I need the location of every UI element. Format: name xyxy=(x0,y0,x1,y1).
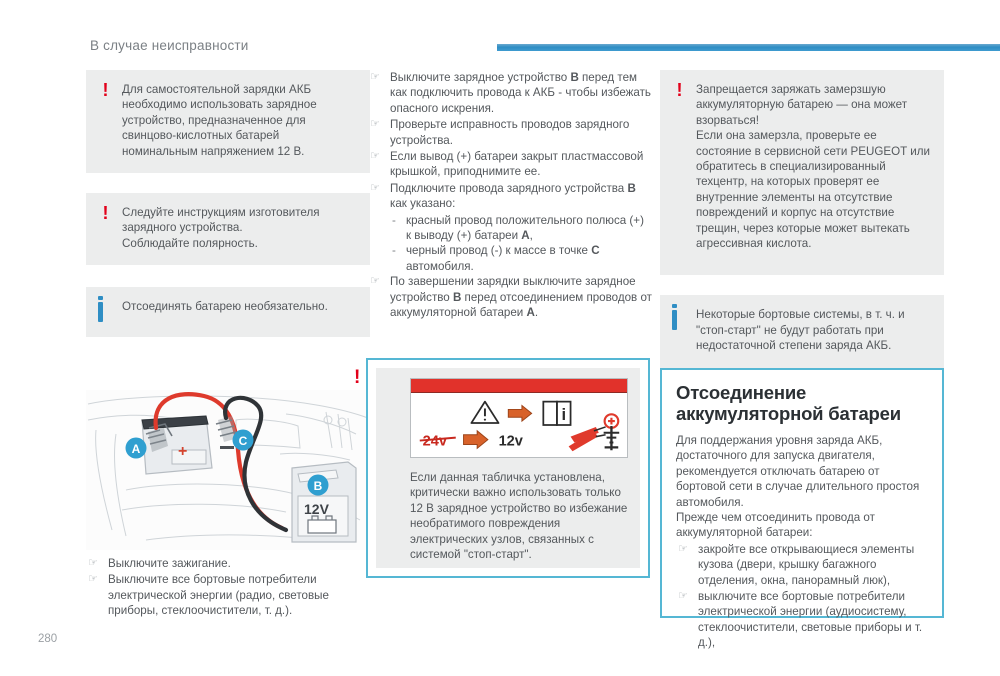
ref-letter: C xyxy=(591,244,599,257)
to-voltage-label: 12v xyxy=(499,433,524,449)
hand-pointer-icon: ☞ xyxy=(678,542,688,557)
hand-pointer-icon: ☞ xyxy=(88,572,98,587)
warning-triangle-icon xyxy=(471,402,498,423)
list-item-label-cont: как указано: xyxy=(390,197,455,210)
info-i-icon xyxy=(672,308,686,330)
from-voltage-label: 24v xyxy=(420,433,456,449)
info-text: Отсоединять батарею необязательно. xyxy=(122,299,356,314)
list-item: ☞ Выключите зажигание. xyxy=(86,556,376,571)
list-item-label: Проверьте исправность проводов зарядного… xyxy=(390,118,629,146)
list-item: - черный провод (-) к массе в точке C ав… xyxy=(390,243,652,274)
list-item-label: Выключите зажигание. xyxy=(108,557,231,570)
warning-box-charger-spec: ! Для самостоятельной зарядки АКБ необхо… xyxy=(86,70,370,173)
column-middle: ☞ Выключите зарядное устройство B перед … xyxy=(368,70,652,322)
sticker-caption: Если данная табличка установлена, критич… xyxy=(410,470,628,562)
warning-exclamation-icon: ! xyxy=(672,83,686,101)
warning-body: Если она замерзла, проверьте ее состояни… xyxy=(696,128,930,251)
warning-exclamation-icon: ! xyxy=(354,370,360,385)
left-steps-list: ☞ Выключите зажигание. ☞ Выключите все б… xyxy=(86,556,376,620)
manual-page: В случае неисправности ! Для самостоятел… xyxy=(0,0,1000,676)
warning-line-2: зарядного устройства. xyxy=(122,220,356,235)
list-item-label: закройте все открывающиеся элементы кузо… xyxy=(698,543,914,587)
warning-text: Для самостоятельной зарядки АКБ необходи… xyxy=(122,82,356,159)
warning-lead: Запрещается заряжать замерзшую аккумулят… xyxy=(696,82,930,128)
sticker-warning-panel: ! xyxy=(366,358,650,578)
list-item-label: Подключите провода зарядного устройства xyxy=(390,182,627,195)
middle-substeps-list: - красный провод положительного полюса (… xyxy=(390,213,652,275)
column-right: ! Запрещается заряжать замерзшую аккумул… xyxy=(660,70,944,390)
ref-letter: B xyxy=(570,71,578,84)
section-heading: Отсоединение аккумуляторной батареи xyxy=(676,382,928,424)
page-section-title: В случае неисправности xyxy=(90,38,249,53)
charger-voltage-label: 12V xyxy=(304,501,330,517)
list-item-label-cont: , xyxy=(530,229,533,242)
middle-steps-list: ☞ Выключите зарядное устройство B перед … xyxy=(368,70,652,212)
list-item: ☞ выключите все бортовые потребители эле… xyxy=(676,589,928,651)
info-box-disconnect-optional: Отсоединять батарею необязательно. xyxy=(86,287,370,336)
warning-exclamation-icon: ! xyxy=(98,83,112,101)
list-item: - красный провод положительного полюса (… xyxy=(390,213,652,244)
hand-pointer-icon: ☞ xyxy=(370,274,380,289)
warning-exclamation-icon: ! xyxy=(98,206,112,224)
hand-pointer-icon: ☞ xyxy=(370,149,380,164)
24v-to-12v-warning-label: i 24v 12v xyxy=(410,378,628,458)
section-intro: Для поддержания уровня заряда АКБ, доста… xyxy=(676,433,928,510)
svg-text:C: C xyxy=(239,434,248,448)
dash-bullet-icon: - xyxy=(392,243,396,258)
page-number: 280 xyxy=(38,633,57,645)
ref-letter: B xyxy=(627,182,635,195)
callout-b: B xyxy=(308,475,329,496)
svg-text:A: A xyxy=(132,442,141,456)
list-item-label: черный провод (-) к массе в точке xyxy=(406,244,591,257)
svg-text:i: i xyxy=(561,405,566,424)
header-rule xyxy=(497,44,1000,51)
svg-text:24v: 24v xyxy=(423,433,448,449)
list-item: ☞ Проверьте исправность проводов зарядно… xyxy=(368,117,652,148)
sticker-red-bar xyxy=(411,379,627,393)
hand-pointer-icon: ☞ xyxy=(370,117,380,132)
disconnection-steps-list: ☞ закройте все открывающиеся элементы ку… xyxy=(676,542,928,651)
callout-c: C xyxy=(233,430,254,451)
warning-line-3: Соблюдайте полярность. xyxy=(122,236,356,251)
list-item: ☞ закройте все открывающиеся элементы ку… xyxy=(676,542,928,588)
arrow-right-icon xyxy=(508,406,531,422)
svg-text:B: B xyxy=(314,479,323,493)
manual-book-icon: i xyxy=(543,402,570,425)
list-item: ☞ Выключите зарядное устройство B перед … xyxy=(368,70,652,116)
ref-letter: A xyxy=(527,306,535,319)
list-item: ☞ По завершении зарядки выключите зарядн… xyxy=(368,274,652,320)
list-item-label-cont: автомобиля. xyxy=(406,260,474,273)
list-item: ☞ Выключите все бортовые потребители эле… xyxy=(86,572,376,618)
battery-disconnection-section: Отсоединение аккумуляторной батареи Для … xyxy=(660,368,944,618)
list-item-label-end: . xyxy=(535,306,538,319)
list-item: ☞ Подключите провода зарядного устройств… xyxy=(368,181,652,212)
warning-box-follow-instructions: ! Следуйте инструкциям изготовителя заря… xyxy=(86,193,370,265)
battery-clamp-icon xyxy=(569,414,620,451)
hand-pointer-icon: ☞ xyxy=(88,556,98,571)
arrow-right-icon xyxy=(464,431,488,449)
list-item-label: Если вывод (+) батареи закрыт пластмассо… xyxy=(390,150,643,178)
list-item: ☞ Если вывод (+) батареи закрыт пластмас… xyxy=(368,149,652,180)
info-i-icon xyxy=(98,300,112,322)
engine-bay-battery-charging-illustration: + 12V xyxy=(86,390,370,550)
hand-pointer-icon: ☞ xyxy=(370,181,380,196)
hand-pointer-icon: ☞ xyxy=(370,70,380,85)
svg-text:+: + xyxy=(178,443,187,460)
list-item-label: выключите все бортовые потребители элект… xyxy=(698,590,922,649)
column-left: ! Для самостоятельной зарядки АКБ необхо… xyxy=(86,70,370,351)
info-box-stop-start: Некоторые бортовые системы, в т. ч. и "с… xyxy=(660,295,944,375)
middle-final-step: ☞ По завершении зарядки выключите зарядн… xyxy=(368,274,652,320)
callout-a: A xyxy=(126,438,147,459)
warning-line-1: Следуйте инструкциям изготовителя xyxy=(122,205,356,220)
warning-box-frozen-battery: ! Запрещается заряжать замерзшую аккумул… xyxy=(660,70,944,275)
list-item-label: Выключите зарядное устройство xyxy=(390,71,570,84)
info-text: Некоторые бортовые системы, в т. ч. и "с… xyxy=(696,307,930,353)
list-item-label: Выключите все бортовые потребители элект… xyxy=(108,573,329,617)
dash-bullet-icon: - xyxy=(392,213,396,228)
ref-letter: A xyxy=(521,229,529,242)
section-intro-2: Прежде чем отсоединить провода от аккуму… xyxy=(676,510,928,541)
hand-pointer-icon: ☞ xyxy=(678,589,688,604)
